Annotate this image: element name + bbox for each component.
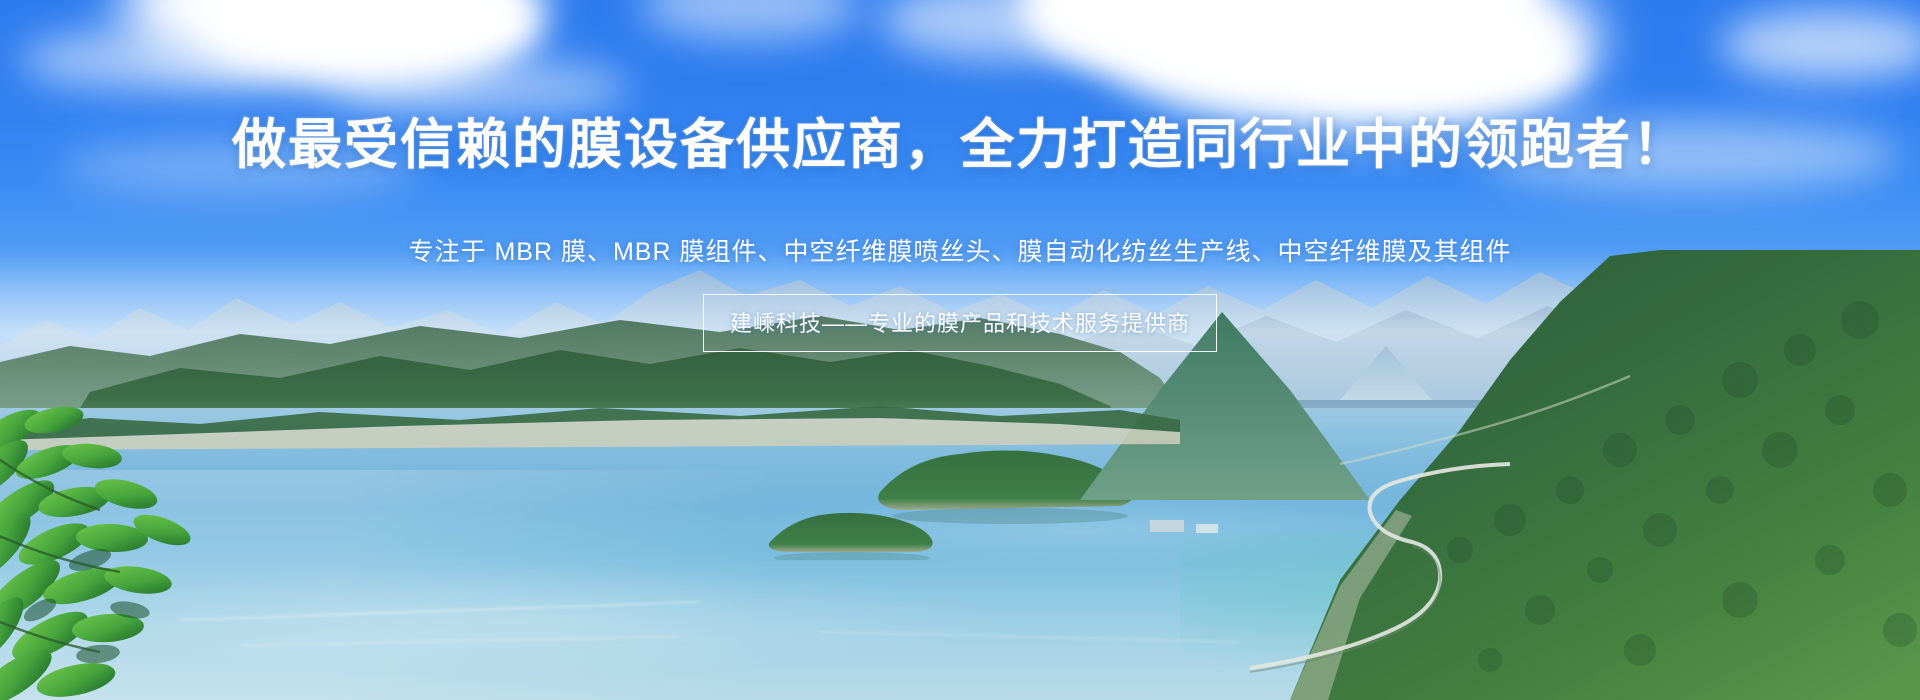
hero-banner: 做最受信赖的膜设备供应商，全力打造同行业中的领跑者！ 专注于 MBR 膜、MBR… — [0, 0, 1920, 700]
banner-text-overlay: 做最受信赖的膜设备供应商，全力打造同行业中的领跑者！ 专注于 MBR 膜、MBR… — [0, 0, 1920, 700]
banner-subtitle: 专注于 MBR 膜、MBR 膜组件、中空纤维膜喷丝头、膜自动化纺丝生产线、中空纤… — [0, 232, 1920, 268]
banner-tagline-row: 建嵊科技——专业的膜产品和技术服务提供商 — [0, 294, 1920, 352]
banner-tagline-box: 建嵊科技——专业的膜产品和技术服务提供商 — [703, 294, 1217, 352]
banner-headline: 做最受信赖的膜设备供应商，全力打造同行业中的领跑者！ — [0, 100, 1920, 179]
